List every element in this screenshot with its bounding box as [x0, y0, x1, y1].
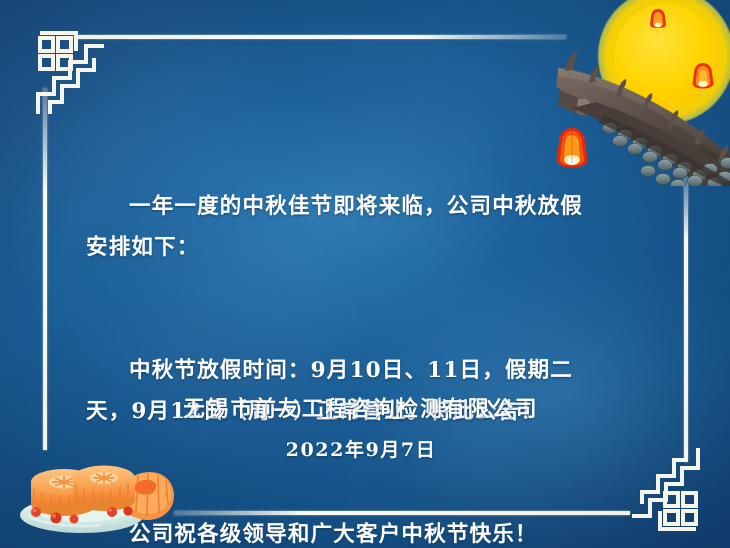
notice-paragraph-3: 公司祝各级领导和广大客户中秋节快乐！ — [86, 514, 586, 548]
signature-company: 无锡市前友工程咨询检测有限公司 — [0, 392, 730, 423]
notice-paragraph-1: 一年一度的中秋佳节即将来临，公司中秋放假安排如下： — [86, 186, 586, 268]
signature-date: 2022年9月7日 — [0, 435, 730, 462]
greek-key-corner-icon — [28, 28, 114, 114]
mid-autumn-notice-poster: 一年一度的中秋佳节即将来临，公司中秋放假安排如下： 中秋节放假时间：9月10日、… — [0, 0, 730, 548]
signature-block: 无锡市前友工程咨询检测有限公司 2022年9月7日 — [0, 392, 730, 462]
frame-line-top — [74, 35, 566, 39]
notice-body: 一年一度的中秋佳节即将来临，公司中秋放假安排如下： 中秋节放假时间：9月10日、… — [86, 104, 586, 548]
